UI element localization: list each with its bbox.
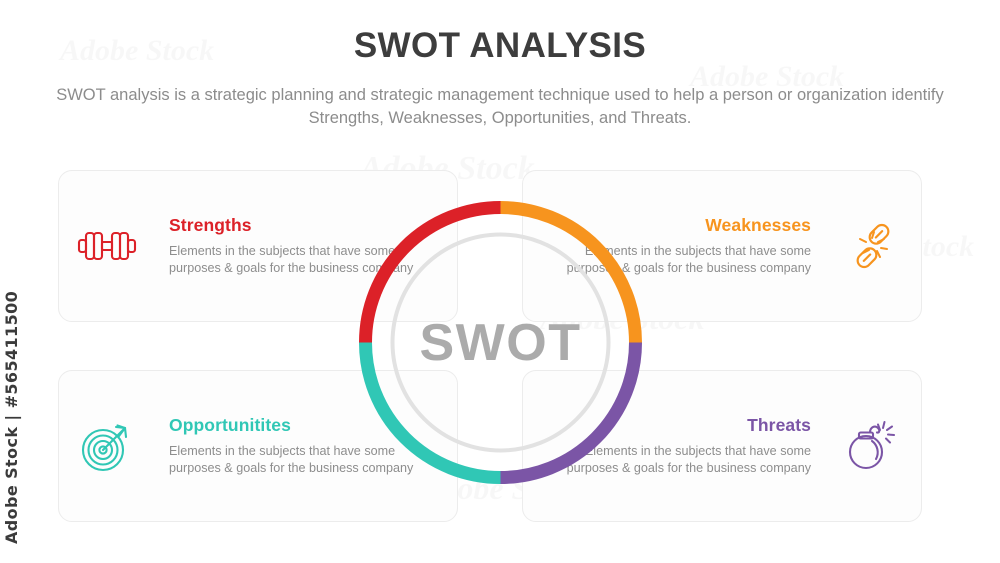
- donut-inner-ring: [393, 235, 609, 451]
- stock-credit-watermark: Adobe Stock | #565411500: [2, 291, 21, 544]
- donut-svg: [358, 200, 643, 485]
- donut-segment-weaknesses: [501, 208, 636, 343]
- swot-donut-chart: SWOT: [358, 200, 643, 485]
- donut-segment-opportunities: [366, 343, 501, 478]
- donut-segment-strengths: [366, 208, 501, 343]
- donut-segment-threats: [501, 343, 636, 478]
- page-title: SWOT ANALYSIS: [0, 26, 1000, 66]
- dumbbell-icon: [59, 225, 155, 267]
- target-arrow-icon: [59, 417, 155, 475]
- broken-chain-icon: [825, 218, 921, 274]
- page-subtitle: SWOT analysis is a strategic planning an…: [50, 84, 950, 130]
- infographic-canvas: Adobe Stock Adobe Stock Adobe Stock Adob…: [0, 0, 1000, 563]
- bomb-icon: [825, 418, 921, 474]
